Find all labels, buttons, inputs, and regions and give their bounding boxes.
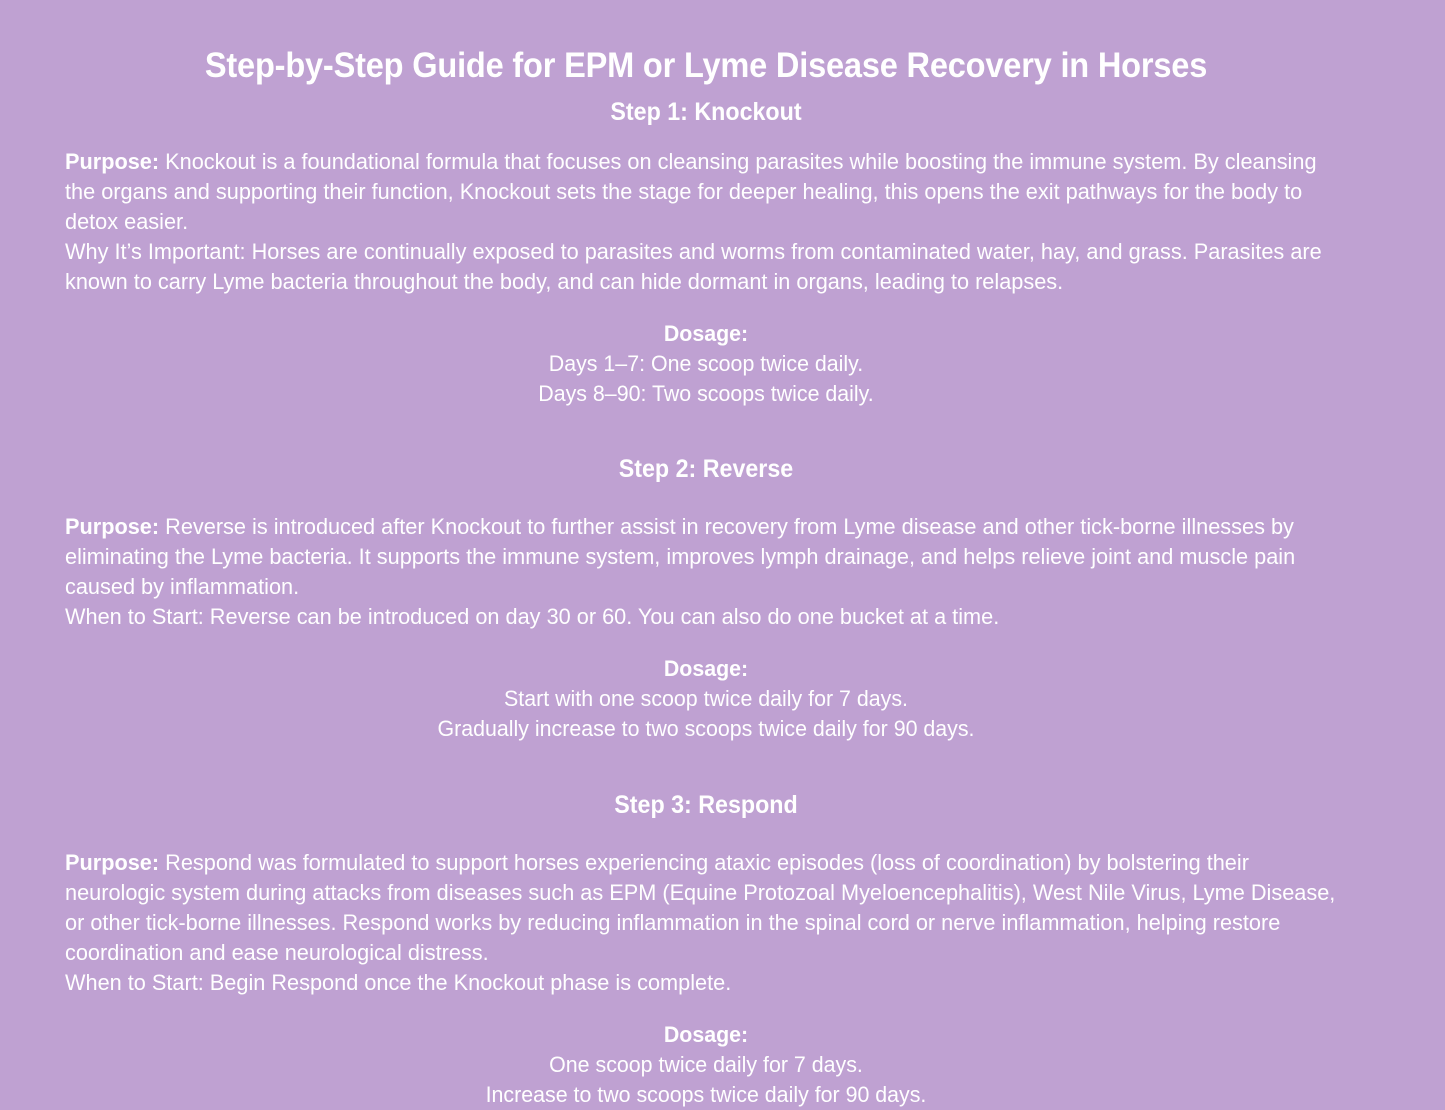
step-3-purpose-text: Respond was formulated to support horses…	[65, 850, 1335, 965]
step-2-dosage-line-2: Gradually increase to two scoops twice d…	[97, 714, 1315, 744]
step-1-note-text: Why It’s Important: Horses are continual…	[65, 237, 1347, 297]
step-3-dosage-line-1: One scoop twice daily for 7 days.	[97, 1050, 1315, 1080]
poster-content: Step-by-Step Guide for EPM or Lyme Disea…	[65, 0, 1347, 1110]
guide-poster: Step-by-Step Guide for EPM or Lyme Disea…	[0, 0, 1445, 1046]
step-2-purpose-text: Reverse is introduced after Knockout to …	[65, 514, 1295, 599]
step-1-purpose-label: Purpose:	[65, 149, 159, 174]
step-3-dosage-block: Dosage: One scoop twice daily for 7 days…	[97, 998, 1315, 1110]
step-2-purpose-label: Purpose:	[65, 514, 159, 539]
step-1-dosage-line-2: Days 8–90: Two scoops twice daily.	[97, 379, 1315, 409]
step-3-heading: Step 3: Respond	[110, 744, 1302, 818]
step-3-note-text: When to Start: Begin Respond once the Kn…	[65, 968, 1347, 998]
step-2-purpose-paragraph: Purpose: Reverse is introduced after Kno…	[65, 482, 1347, 632]
step-1-dosage-title: Dosage:	[97, 319, 1315, 349]
step-1-dosage-block: Dosage: Days 1–7: One scoop twice daily.…	[97, 297, 1315, 409]
step-2-note-text: When to Start: Reverse can be introduced…	[65, 602, 1347, 632]
step-2-dosage-title: Dosage:	[97, 654, 1315, 684]
step-3-purpose-label: Purpose:	[65, 850, 159, 875]
step-2-dosage-line-1: Start with one scoop twice daily for 7 d…	[97, 684, 1315, 714]
page-title: Step-by-Step Guide for EPM or Lyme Disea…	[110, 0, 1302, 83]
step-1-purpose-paragraph: Purpose: Knockout is a foundational form…	[65, 125, 1347, 297]
step-2-dosage-block: Dosage: Start with one scoop twice daily…	[97, 632, 1315, 744]
step-3-purpose-paragraph: Purpose: Respond was formulated to suppo…	[65, 818, 1347, 998]
step-2-heading: Step 2: Reverse	[110, 409, 1302, 482]
step-1-purpose-text: Knockout is a foundational formula that …	[65, 149, 1317, 234]
step-1-heading: Step 1: Knockout	[110, 83, 1302, 125]
step-3-dosage-line-2: Increase to two scoops twice daily for 9…	[97, 1080, 1315, 1110]
step-1-dosage-line-1: Days 1–7: One scoop twice daily.	[97, 349, 1315, 379]
